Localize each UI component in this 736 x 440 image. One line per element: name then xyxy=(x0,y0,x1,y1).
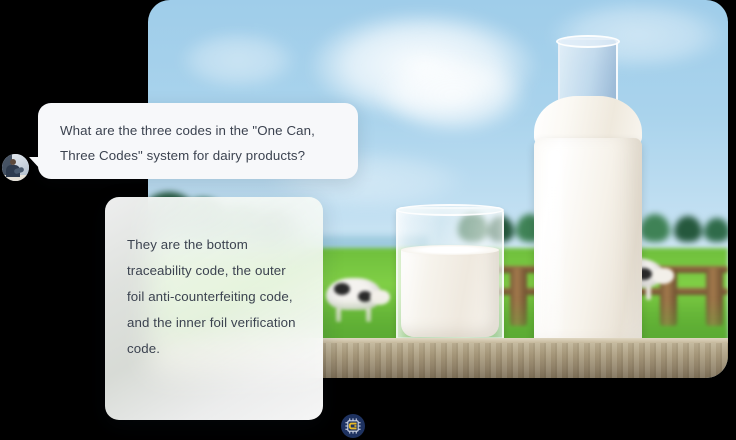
chip-logo-badge[interactable] xyxy=(341,414,365,438)
avatar[interactable] xyxy=(2,154,29,181)
screenshot-root: What are the three codes in the "One Can… xyxy=(0,0,736,440)
cloud xyxy=(378,55,528,135)
milk-bottle xyxy=(528,38,648,356)
chip-icon xyxy=(345,418,361,434)
cloud xyxy=(178,30,298,90)
milk-glass xyxy=(396,207,504,355)
bubble-tail xyxy=(29,157,41,170)
question-text: What are the three codes in the "One Can… xyxy=(60,118,336,168)
answer-bubble[interactable]: They are the bottom traceability code, t… xyxy=(105,197,323,420)
avatar-head xyxy=(10,159,16,165)
question-bubble[interactable]: What are the three codes in the "One Can… xyxy=(38,103,358,179)
answer-text: They are the bottom traceability code, t… xyxy=(127,232,301,362)
